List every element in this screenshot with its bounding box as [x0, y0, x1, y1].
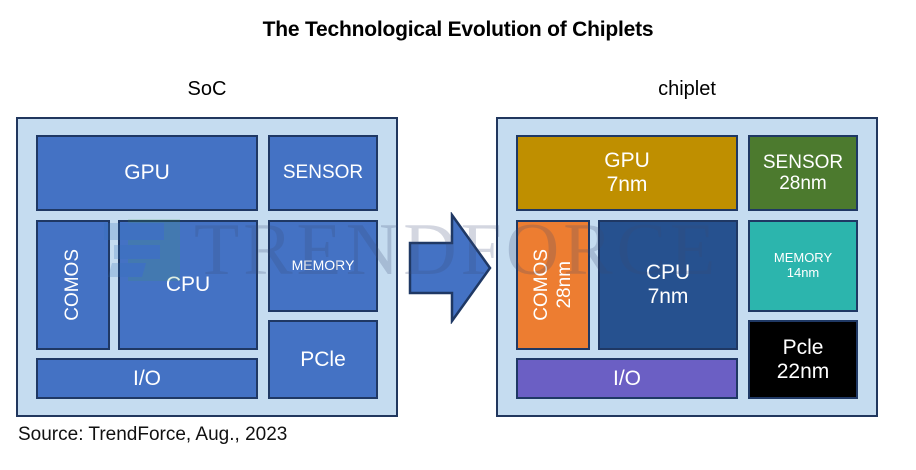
chiplet-block-comos-label: COMOS — [531, 249, 552, 321]
chiplet-block-memory-node: 14nm — [787, 266, 820, 281]
chiplet-block-memory: MEMORY 14nm — [748, 220, 858, 312]
soc-block-cpu: CPU — [118, 220, 258, 350]
chiplet-block-pcie-label: Pcle — [783, 336, 824, 360]
soc-block-gpu-label: GPU — [124, 161, 170, 185]
panel-caption-chiplet: chiplet — [496, 78, 878, 101]
soc-block-pcie-label: PCle — [300, 348, 346, 372]
chiplet-diagram-panel: GPU 7nm SENSOR 28nm COMOS 28nm CPU 7nm M… — [496, 117, 878, 417]
chiplet-block-pcie: Pcle 22nm — [748, 320, 858, 399]
soc-block-pcie: PCle — [268, 320, 378, 399]
chiplet-block-sensor: SENSOR 28nm — [748, 135, 858, 211]
chiplet-block-memory-label: MEMORY — [774, 251, 832, 266]
chiplet-block-sensor-node: 28nm — [779, 173, 827, 194]
soc-block-memory-label: MEMORY — [292, 258, 355, 274]
panel-caption-soc: SoC — [16, 78, 398, 101]
chiplet-block-gpu-node: 7nm — [607, 173, 648, 197]
soc-block-io: I/O — [36, 358, 258, 399]
soc-diagram-panel: GPU SENSOR COMOS CPU MEMORY PCle I/O — [16, 117, 398, 417]
soc-block-cpu-label: CPU — [166, 273, 210, 297]
soc-block-gpu: GPU — [36, 135, 258, 211]
chiplet-block-gpu: GPU 7nm — [516, 135, 738, 211]
soc-block-io-label: I/O — [133, 367, 161, 391]
chiplet-block-comos: COMOS 28nm — [516, 220, 590, 350]
page-title: The Technological Evolution of Chiplets — [0, 18, 916, 42]
soc-block-memory: MEMORY — [268, 220, 378, 312]
soc-block-comos: COMOS — [36, 220, 110, 350]
soc-block-sensor-label: SENSOR — [283, 162, 363, 183]
chiplet-block-sensor-label: SENSOR — [763, 152, 843, 173]
chiplet-block-comos-node: 28nm — [554, 261, 575, 309]
soc-block-comos-label: COMOS — [62, 249, 83, 321]
chiplet-block-pcie-node: 22nm — [777, 360, 830, 384]
chiplet-block-io: I/O — [516, 358, 738, 399]
chiplet-block-cpu-node: 7nm — [648, 285, 689, 309]
soc-block-sensor: SENSOR — [268, 135, 378, 211]
chiplet-block-io-label: I/O — [613, 367, 641, 391]
evolution-arrow — [408, 212, 492, 324]
chiplet-block-cpu-label: CPU — [646, 261, 690, 285]
source-caption: Source: TrendForce, Aug., 2023 — [18, 424, 287, 446]
chiplet-block-gpu-label: GPU — [604, 149, 650, 173]
chiplet-block-cpu: CPU 7nm — [598, 220, 738, 350]
